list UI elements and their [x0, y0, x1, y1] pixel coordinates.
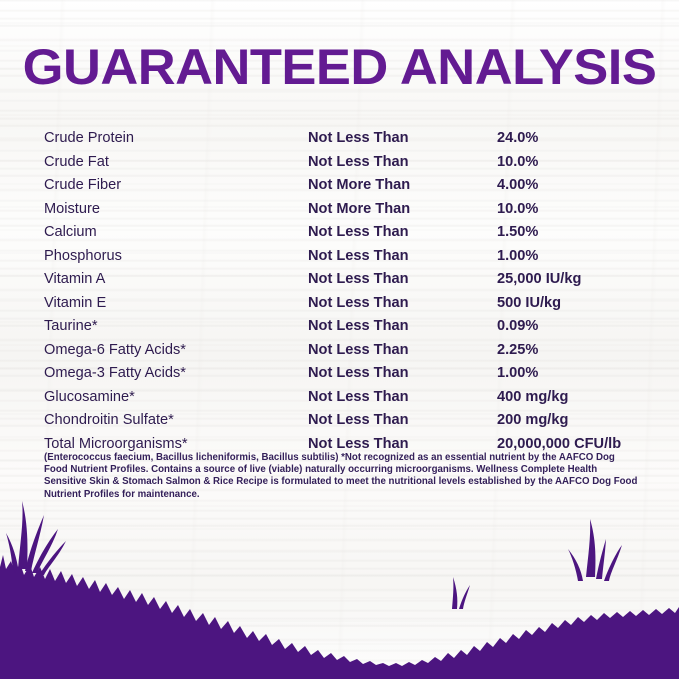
nutrient-value: 2.25%: [497, 339, 644, 363]
nutrient-name: Vitamin E: [44, 292, 308, 316]
grass-blade-tall-right-4: [568, 549, 583, 581]
table-row: Omega-3 Fatty Acids*Not Less Than1.00%: [44, 362, 644, 386]
table-row: Crude ProteinNot Less Than24.0%: [44, 127, 644, 151]
nutrient-qualifier: Not More Than: [308, 198, 497, 222]
table-row: Crude FiberNot More Than4.00%: [44, 174, 644, 198]
grass-blade-center-2: [459, 585, 470, 609]
nutrient-value: 1.00%: [497, 245, 644, 269]
nutrient-name: Crude Fat: [44, 151, 308, 175]
grass-blade-center: [452, 577, 457, 609]
nutrient-value: 200 mg/kg: [497, 409, 644, 433]
page-title: GUARANTEED ANALYSIS: [0, 40, 679, 94]
nutrient-name: Omega-3 Fatty Acids*: [44, 362, 308, 386]
nutrient-qualifier: Not More Than: [308, 174, 497, 198]
nutrient-value: 10.0%: [497, 198, 644, 222]
nutrient-qualifier: Not Less Than: [308, 292, 497, 316]
table-row: Chondroitin Sulfate*Not Less Than200 mg/…: [44, 409, 644, 433]
nutrient-name: Crude Fiber: [44, 174, 308, 198]
nutrient-name: Crude Protein: [44, 127, 308, 151]
nutrient-name: Moisture: [44, 198, 308, 222]
nutrient-qualifier: Not Less Than: [308, 315, 497, 339]
nutrient-qualifier: Not Less Than: [308, 409, 497, 433]
guaranteed-analysis-table: Crude ProteinNot Less Than24.0%Crude Fat…: [44, 127, 644, 456]
nutrient-qualifier: Not Less Than: [308, 127, 497, 151]
grass-blades-group: [0, 501, 679, 679]
nutrient-qualifier: Not Less Than: [308, 268, 497, 292]
table-row: Vitamin ENot Less Than500 IU/kg: [44, 292, 644, 316]
grass-blade-tall-right-2: [596, 539, 606, 579]
table-row: Crude FatNot Less Than10.0%: [44, 151, 644, 175]
table-row: CalciumNot Less Than1.50%: [44, 221, 644, 245]
nutrient-qualifier: Not Less Than: [308, 362, 497, 386]
guaranteed-analysis-panel: GUARANTEED ANALYSIS Crude ProteinNot Les…: [0, 0, 679, 679]
nutrient-name: Calcium: [44, 221, 308, 245]
grass-silhouette-icon: [0, 489, 679, 679]
nutrient-name: Phosphorus: [44, 245, 308, 269]
nutrient-qualifier: Not Less Than: [308, 339, 497, 363]
nutrient-name: Chondroitin Sulfate*: [44, 409, 308, 433]
nutrient-qualifier: Not Less Than: [308, 221, 497, 245]
nutrient-name: Omega-6 Fatty Acids*: [44, 339, 308, 363]
nutrient-name: Taurine*: [44, 315, 308, 339]
grass-blade-tall-right-3: [604, 545, 622, 581]
nutrient-name: Vitamin A: [44, 268, 308, 292]
grass-blade-tall-left-1: [18, 501, 27, 569]
nutrient-qualifier: Not Less Than: [308, 151, 497, 175]
grass-blade-tall-right-1: [586, 519, 595, 577]
table-row: PhosphorusNot Less Than1.00%: [44, 245, 644, 269]
nutrient-value: 500 IU/kg: [497, 292, 644, 316]
nutrient-value: 4.00%: [497, 174, 644, 198]
nutrient-value: 10.0%: [497, 151, 644, 175]
nutrient-value: 24.0%: [497, 127, 644, 151]
nutrient-qualifier: Not Less Than: [308, 386, 497, 410]
table-row: Glucosamine*Not Less Than400 mg/kg: [44, 386, 644, 410]
nutrient-value: 25,000 IU/kg: [497, 268, 644, 292]
nutrient-value: 400 mg/kg: [497, 386, 644, 410]
nutrient-value: 1.00%: [497, 362, 644, 386]
table-row: Taurine*Not Less Than0.09%: [44, 315, 644, 339]
table-row: Vitamin ANot Less Than25,000 IU/kg: [44, 268, 644, 292]
nutrient-value: 0.09%: [497, 315, 644, 339]
table-row: MoistureNot More Than10.0%: [44, 198, 644, 222]
nutrient-qualifier: Not Less Than: [308, 245, 497, 269]
table-row: Omega-6 Fatty Acids*Not Less Than2.25%: [44, 339, 644, 363]
nutrient-name: Glucosamine*: [44, 386, 308, 410]
nutrient-value: 1.50%: [497, 221, 644, 245]
